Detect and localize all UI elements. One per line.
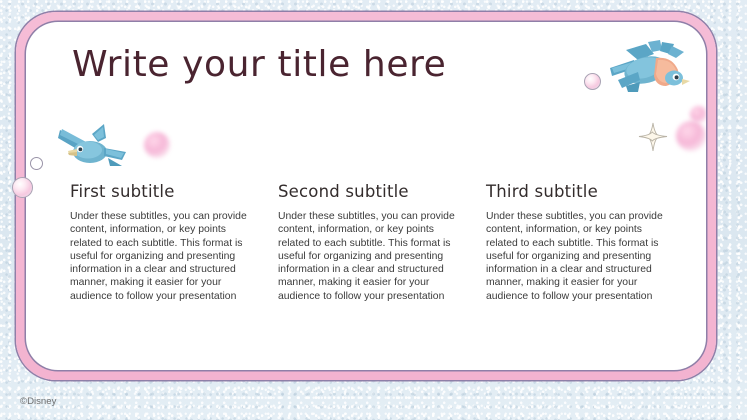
pearl-bubble-edge (12, 177, 33, 198)
copyright-label: ©Disney (20, 396, 56, 407)
column-third: Third subtitle Under these subtitles, yo… (486, 182, 668, 303)
column-body: Under these subtitles, you can provide c… (278, 210, 460, 303)
slide-card: Write your title here (26, 22, 706, 370)
column-body: Under these subtitles, you can provide c… (70, 210, 252, 303)
pink-bubble (676, 121, 706, 151)
bluebird-peach-icon (604, 40, 694, 104)
column-heading: Second subtitle (278, 182, 460, 201)
page-title: Write your title here (72, 44, 446, 85)
sparkle-star-icon (638, 122, 668, 152)
subtitle-columns: First subtitle Under these subtitles, yo… (70, 182, 670, 303)
pearl-bubble (584, 73, 601, 90)
column-body: Under these subtitles, you can provide c… (486, 210, 668, 303)
bluebird-icon (52, 118, 136, 176)
column-second: Second subtitle Under these subtitles, y… (278, 182, 460, 303)
ring-bubble (30, 157, 43, 170)
column-first: First subtitle Under these subtitles, yo… (70, 182, 252, 303)
pink-bubble (690, 106, 706, 123)
pink-bubble (144, 132, 170, 158)
column-heading: Third subtitle (486, 182, 668, 201)
column-heading: First subtitle (70, 182, 252, 201)
